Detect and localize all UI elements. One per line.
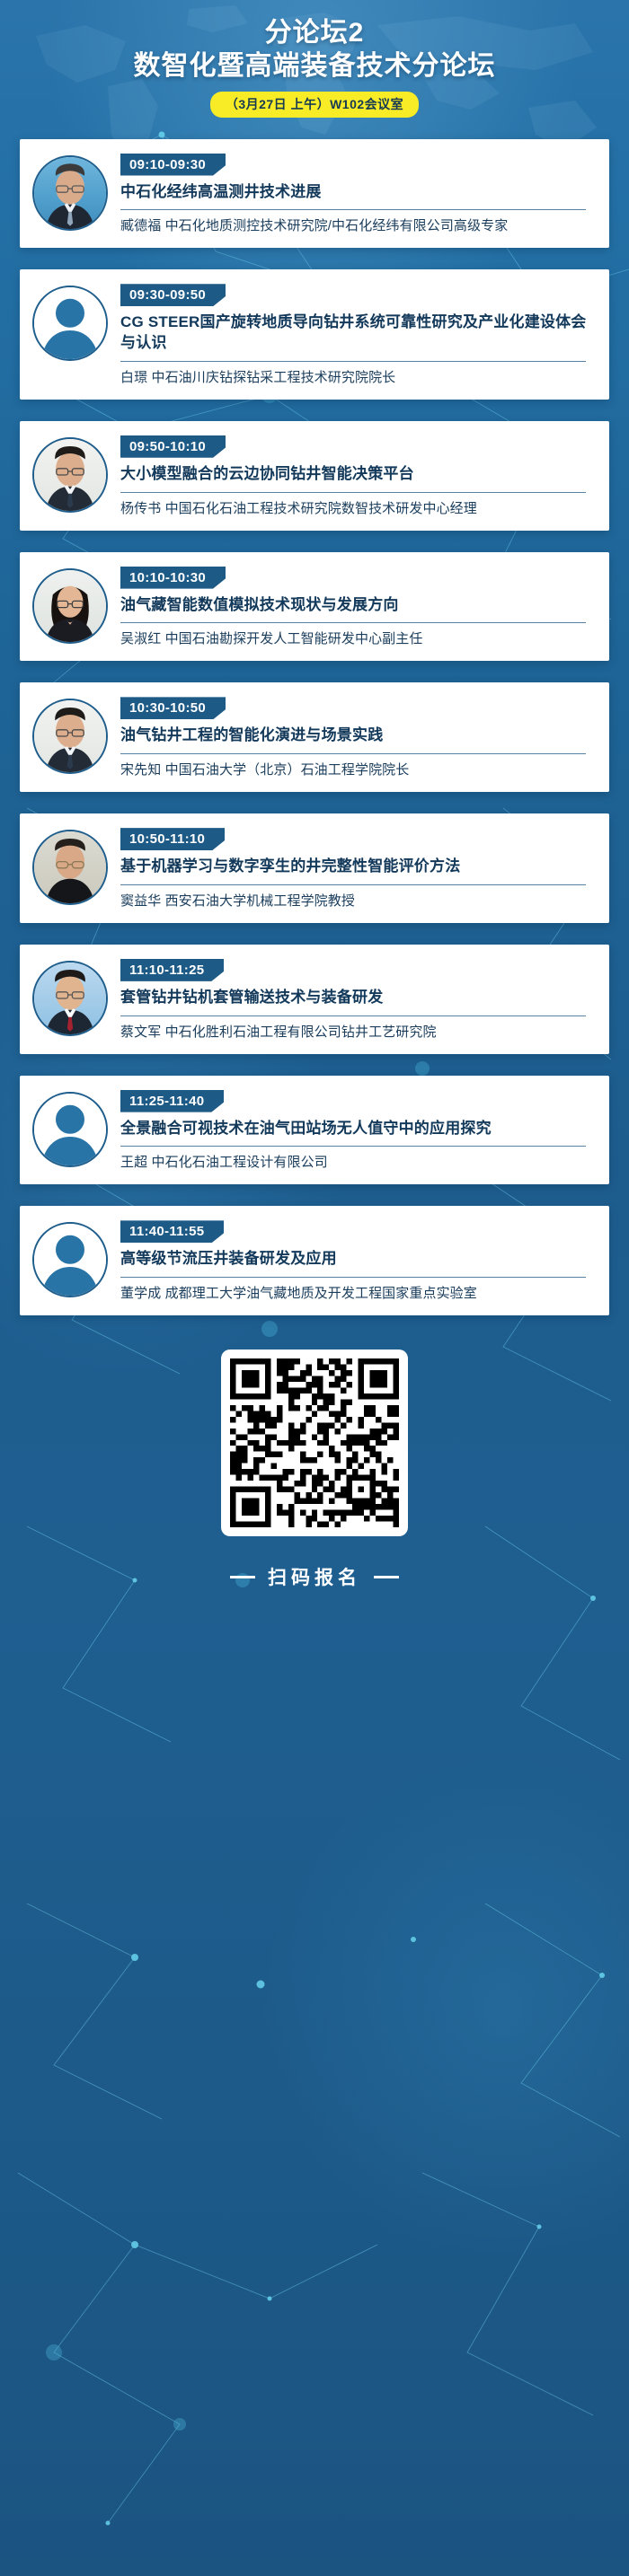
session-body: 09:10-09:30中石化经纬高温测井技术进展臧德福 中石化地质测控技术研究院… <box>120 152 595 236</box>
session-card[interactable]: 09:50-10:10大小模型融合的云边协同钻井智能决策平台杨传书 中国石化石油… <box>20 421 609 531</box>
session-divider <box>120 1277 586 1278</box>
session-divider <box>120 1015 586 1016</box>
avatar-photo <box>34 157 106 229</box>
speaker-avatar <box>32 961 108 1036</box>
speaker-avatar <box>32 1222 108 1297</box>
session-divider <box>120 884 586 885</box>
session-time-badge: 09:50-10:10 <box>120 435 226 458</box>
session-card[interactable]: 09:30-09:50CG STEER国产旋转地质导向钻井系统可靠性研究及产业化… <box>20 269 609 400</box>
speaker-avatar <box>32 830 108 905</box>
session-speaker: 臧德福 中石化地质测控技术研究院/中石化经纬有限公司高级专家 <box>120 216 595 235</box>
session-time-badge: 11:40-11:55 <box>120 1220 224 1243</box>
qr-code-image <box>230 1358 399 1527</box>
speaker-avatar <box>32 155 108 231</box>
avatar-placeholder-icon <box>34 287 106 359</box>
session-divider <box>120 1146 586 1147</box>
session-divider <box>120 492 586 493</box>
session-body: 11:10-11:25套管钻井钻机套管输送技术与装备研发蔡文军 中石化胜利石油工… <box>120 957 595 1042</box>
session-title: 油气藏智能数值模拟技术现状与发展方向 <box>120 595 595 616</box>
session-divider <box>120 753 586 754</box>
speaker-avatar <box>32 699 108 774</box>
session-divider <box>120 361 586 362</box>
session-body: 09:50-10:10大小模型融合的云边协同钻井智能决策平台杨传书 中国石化石油… <box>120 434 595 518</box>
session-time-badge: 10:30-10:50 <box>120 697 226 719</box>
session-time-badge: 09:10-09:30 <box>120 154 226 176</box>
session-title: 套管钻井钻机套管输送技术与装备研发 <box>120 988 595 1008</box>
speaker-avatar <box>32 437 108 513</box>
session-body: 10:10-10:30油气藏智能数值模拟技术现状与发展方向吴淑红 中国石油勘探开… <box>120 565 595 649</box>
page-title: 数智化暨高端装备技术分论坛 <box>0 48 629 84</box>
session-time-badge: 11:10-11:25 <box>120 959 224 981</box>
session-list: 09:10-09:30中石化经纬高温测井技术进展臧德福 中石化地质测控技术研究院… <box>0 139 629 1316</box>
session-title: 油气钻井工程的智能化演进与场景实践 <box>120 725 595 746</box>
session-time-badge: 09:30-09:50 <box>120 284 226 306</box>
session-body: 11:25-11:40全景融合可视技术在油气田站场无人值守中的应用探究王超 中石… <box>120 1088 595 1173</box>
avatar-placeholder-icon <box>34 1224 106 1296</box>
venue-badge-container: （3月27日 上午）W102会议室 <box>0 92 629 118</box>
speaker-avatar <box>32 1092 108 1167</box>
avatar-photo <box>34 963 106 1034</box>
session-body: 10:50-11:10基于机器学习与数字孪生的井完整性智能评价方法窦益华 西安石… <box>120 826 595 910</box>
venue-badge: （3月27日 上午）W102会议室 <box>210 92 419 118</box>
session-card[interactable]: 11:25-11:40全景融合可视技术在油气田站场无人值守中的应用探究王超 中石… <box>20 1076 609 1185</box>
avatar-placeholder-icon <box>34 1094 106 1165</box>
session-speaker: 宋先知 中国石油大学（北京）石油工程学院院长 <box>120 760 595 779</box>
session-speaker: 董学成 成都理工大学油气藏地质及开发工程国家重点实验室 <box>120 1284 595 1303</box>
session-title: 大小模型融合的云边协同钻井智能决策平台 <box>120 464 595 485</box>
session-speaker: 蔡文军 中石化胜利石油工程有限公司钻井工艺研究院 <box>120 1023 595 1042</box>
session-body: 11:40-11:55高等级节流压井装备研发及应用董学成 成都理工大学油气藏地质… <box>120 1218 595 1303</box>
session-title: 中石化经纬高温测井技术进展 <box>120 182 595 203</box>
session-card[interactable]: 11:40-11:55高等级节流压井装备研发及应用董学成 成都理工大学油气藏地质… <box>20 1206 609 1315</box>
session-title: CG STEER国产旋转地质导向钻井系统可靠性研究及产业化建设体会与认识 <box>120 312 595 354</box>
avatar-photo <box>34 570 106 642</box>
session-card[interactable]: 11:10-11:25套管钻井钻机套管输送技术与装备研发蔡文军 中石化胜利石油工… <box>20 945 609 1054</box>
session-title: 高等级节流压井装备研发及应用 <box>120 1249 595 1270</box>
caption-rule-left <box>230 1576 255 1578</box>
session-divider <box>120 622 586 623</box>
session-card[interactable]: 10:50-11:10基于机器学习与数字孪生的井完整性智能评价方法窦益华 西安石… <box>20 813 609 923</box>
forum-label: 分论坛2 <box>0 16 629 50</box>
session-title: 基于机器学习与数字孪生的井完整性智能评价方法 <box>120 857 595 877</box>
speaker-avatar <box>32 286 108 361</box>
caption-text: 扫码报名 <box>268 1563 361 1590</box>
session-speaker: 杨传书 中国石化石油工程技术研究院数智技术研发中心经理 <box>120 499 595 518</box>
registration-footer: 扫码报名 <box>0 1337 629 1590</box>
session-card[interactable]: 09:10-09:30中石化经纬高温测井技术进展臧德福 中石化地质测控技术研究院… <box>20 139 609 249</box>
session-divider <box>120 209 586 210</box>
session-time-badge: 10:10-10:30 <box>120 567 226 589</box>
session-title: 全景融合可视技术在油气田站场无人值守中的应用探究 <box>120 1119 595 1139</box>
session-body: 09:30-09:50CG STEER国产旋转地质导向钻井系统可靠性研究及产业化… <box>120 282 595 387</box>
qr-code[interactable] <box>221 1350 408 1536</box>
session-body: 10:30-10:50油气钻井工程的智能化演进与场景实践宋先知 中国石油大学（北… <box>120 695 595 779</box>
session-card[interactable]: 10:30-10:50油气钻井工程的智能化演进与场景实践宋先知 中国石油大学（北… <box>20 682 609 792</box>
avatar-photo <box>34 700 106 772</box>
session-speaker: 白璟 中石油川庆钻探钻采工程技术研究院院长 <box>120 368 595 387</box>
footer-caption: 扫码报名 <box>0 1563 629 1590</box>
speaker-avatar <box>32 568 108 644</box>
avatar-photo <box>34 831 106 903</box>
session-card[interactable]: 10:10-10:30油气藏智能数值模拟技术现状与发展方向吴淑红 中国石油勘探开… <box>20 552 609 662</box>
caption-rule-right <box>374 1576 399 1578</box>
avatar-photo <box>34 439 106 511</box>
session-speaker: 窦益华 西安石油大学机械工程学院教授 <box>120 892 595 910</box>
session-speaker: 王超 中石化石油工程设计有限公司 <box>120 1153 595 1172</box>
session-time-badge: 11:25-11:40 <box>120 1090 224 1112</box>
session-time-badge: 10:50-11:10 <box>120 828 225 850</box>
page-header: 分论坛2 数智化暨高端装备技术分论坛 （3月27日 上午）W102会议室 <box>0 0 629 118</box>
session-speaker: 吴淑红 中国石油勘探开发人工智能研发中心副主任 <box>120 629 595 648</box>
